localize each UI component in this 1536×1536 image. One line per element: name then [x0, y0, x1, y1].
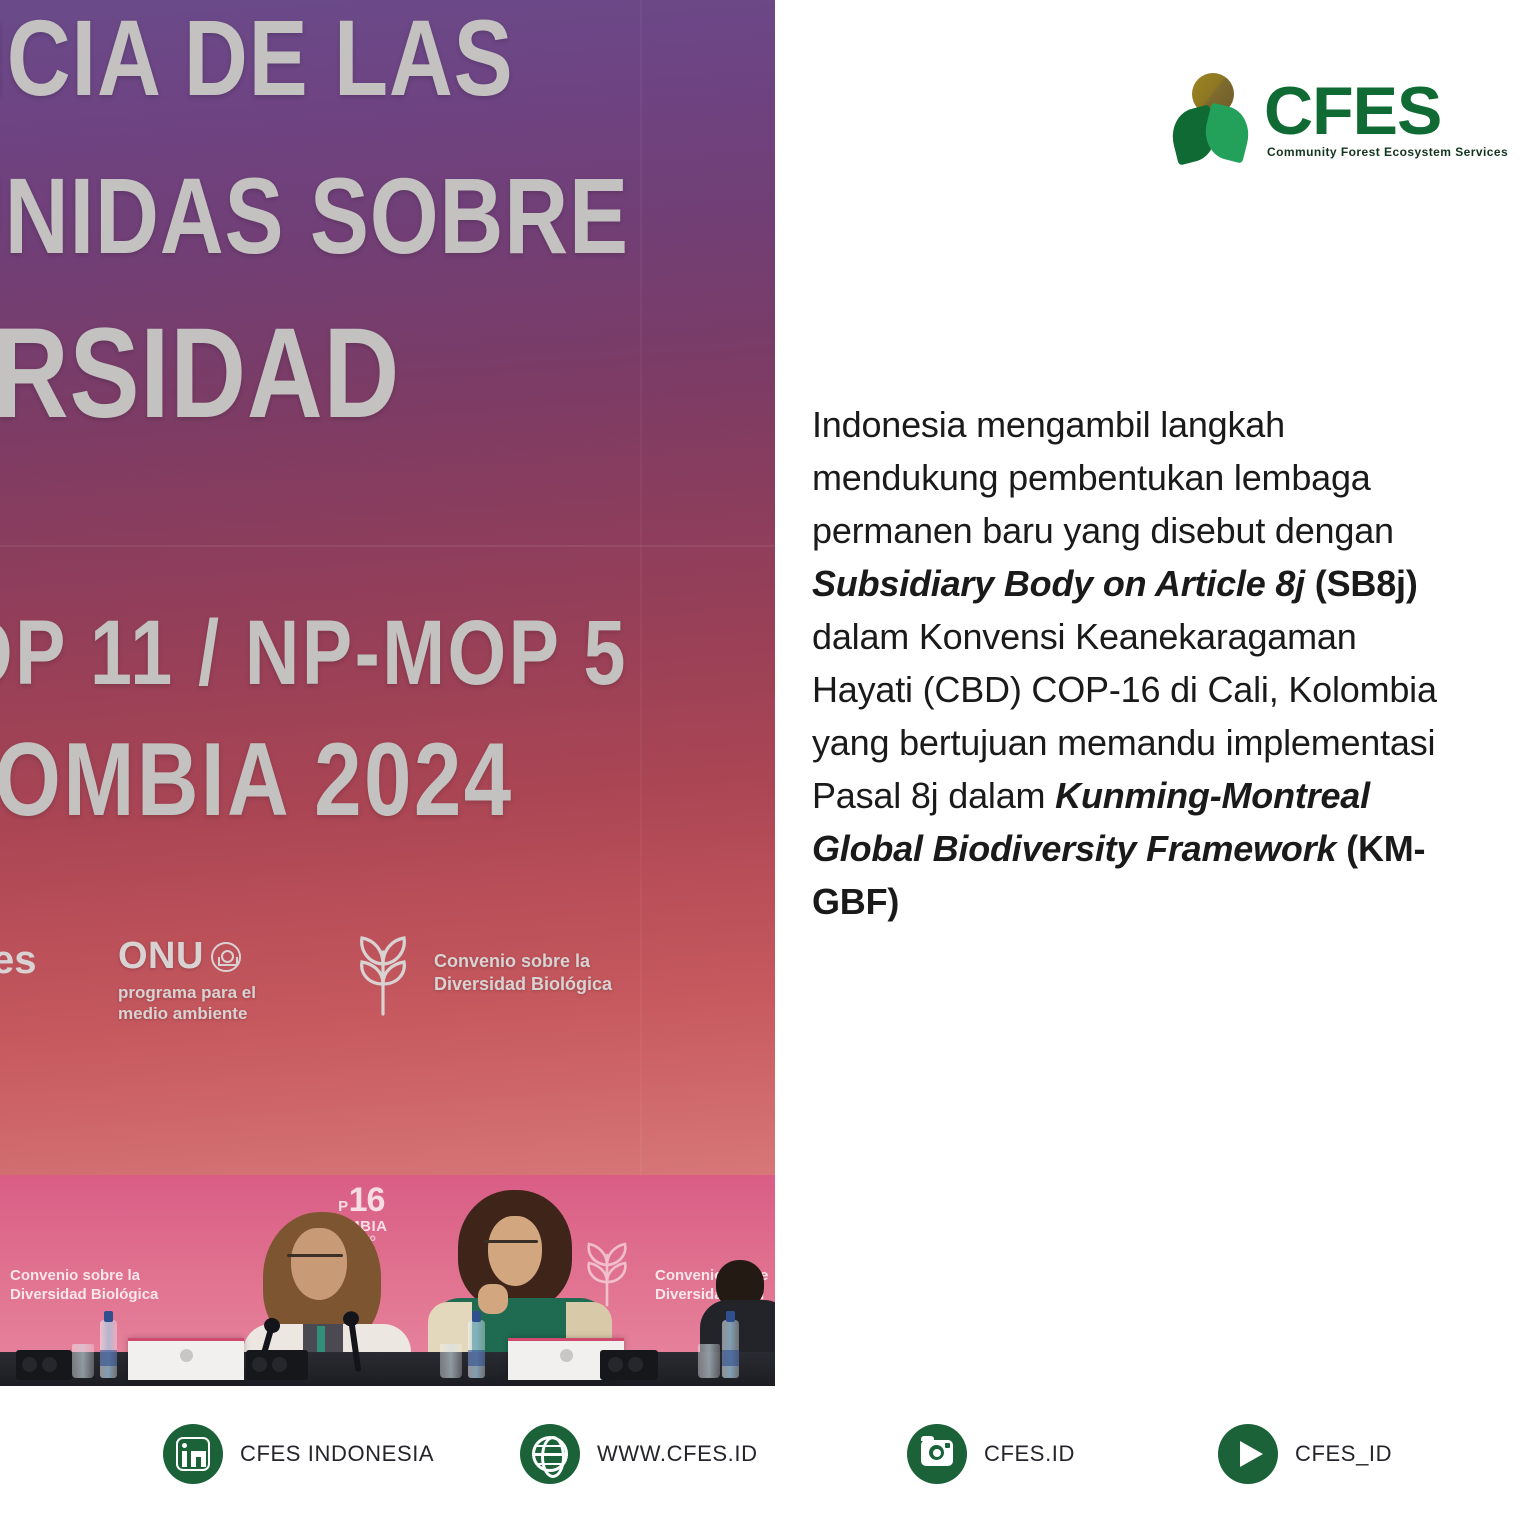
unep-subtitle-line-2: medio ambiente [118, 1003, 256, 1024]
social-media-post: NCIA DE LAS UNIDAS SOBRE ERSIDAD OP 11 /… [0, 0, 1536, 1536]
unep-logo: ONU programa para el medio ambiente [118, 935, 256, 1025]
backdrop-headline-line-4: OP 11 / NP-MOP 5 [0, 613, 628, 694]
nameplate-left [128, 1338, 244, 1380]
water-glass-3 [698, 1344, 720, 1378]
youtube-label: CFES_ID [1295, 1441, 1392, 1467]
speaker-unit-3 [16, 1350, 72, 1380]
copy-plain-1: Indonesia mengambil langkah mendukung pe… [812, 404, 1394, 551]
wall-cbd-text-left: Convenio sobre la Diversidad Biológica [10, 1267, 158, 1305]
cfes-leaf-logo-icon [1172, 73, 1250, 159]
linkedin-icon[interactable] [163, 1424, 223, 1484]
cfes-logo: CFES Community Forest Ecosystem Services [1172, 73, 1508, 159]
unep-wordmark: ONU [118, 935, 204, 978]
water-glass-2 [440, 1344, 462, 1378]
social-link-website[interactable]: WWW.CFES.ID [520, 1424, 758, 1484]
backdrop-seam-horizontal [0, 545, 775, 547]
un-emblem-icon [211, 942, 241, 972]
water-bottle-3 [722, 1320, 739, 1378]
website-label: WWW.CFES.ID [597, 1441, 758, 1467]
speaker-unit-2 [600, 1350, 658, 1380]
panel-session-scene: Convenio sobre la Diversidad Biológica C… [0, 1175, 775, 1386]
instagram-icon[interactable] [907, 1424, 967, 1484]
youtube-play-icon[interactable] [1218, 1424, 1278, 1484]
copy-bold-italic-1: Subsidiary Body on Article 8j [812, 563, 1305, 604]
backdrop-headline-line-5: LOMBIA 2024 [0, 735, 514, 827]
backdrop-headline-line-2: UNIDAS SOBRE [0, 168, 629, 263]
post-body-text: Indonesia mengambil langkah mendukung pe… [812, 398, 1452, 928]
social-link-instagram[interactable]: CFES.ID [907, 1424, 1075, 1484]
copy-bold-1: (SB8j) [1315, 563, 1418, 604]
cbd-leaf-icon [352, 930, 414, 1016]
social-link-linkedin[interactable]: CFES INDONESIA [163, 1424, 434, 1484]
backdrop-headline-line-1: NCIA DE LAS [0, 10, 514, 105]
unep-subtitle-line-1: programa para el [118, 982, 256, 1003]
globe-icon[interactable] [520, 1424, 580, 1484]
water-bottle-1 [100, 1320, 117, 1378]
event-photo: NCIA DE LAS UNIDAS SOBRE ERSIDAD OP 11 /… [0, 0, 775, 1386]
water-bottle-2 [468, 1320, 485, 1378]
cbd-subtitle-line-2: Diversidad Biológica [434, 973, 612, 996]
cbd-subtitle-line-1: Convenio sobre la [434, 950, 612, 973]
speaker-unit-1 [246, 1350, 308, 1380]
social-link-youtube[interactable]: CFES_ID [1218, 1424, 1392, 1484]
backdrop-headline-line-3: ERSIDAD [0, 318, 400, 431]
water-glass-1 [72, 1344, 94, 1378]
instagram-label: CFES.ID [984, 1441, 1075, 1467]
partner-logo-fragment: es [0, 938, 37, 983]
cbd-logo: Convenio sobre la Diversidad Biológica [352, 930, 612, 1016]
cfes-wordmark: CFES Community Forest Ecosystem Services [1264, 80, 1508, 159]
cfes-tagline: Community Forest Ecosystem Services [1264, 145, 1508, 159]
footer-social-bar: CFES INDONESIA WWW.CFES.ID CFES.ID CFES_… [0, 1424, 1536, 1496]
linkedin-label: CFES INDONESIA [240, 1441, 434, 1467]
cfes-name: CFES [1264, 80, 1508, 143]
